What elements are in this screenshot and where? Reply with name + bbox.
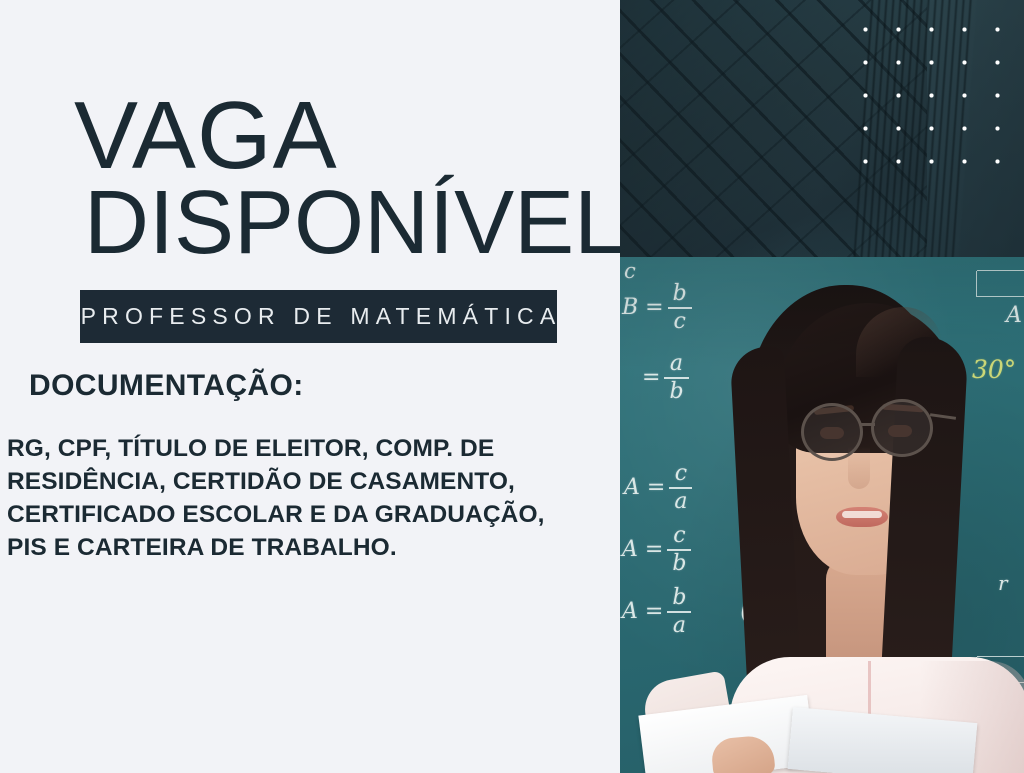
image-column: c B = b c = a xyxy=(620,0,1024,773)
headline-line-2: DISPONÍVEL xyxy=(84,178,624,268)
documentation-line: CERTIFICADO ESCOLAR E DA GRADUAÇÃO, xyxy=(7,498,607,531)
architecture-photo xyxy=(620,0,1024,257)
headline-line-1: VAGA xyxy=(74,88,338,184)
poster-canvas: VAGA DISPONÍVEL PROFESSOR DE MATEMÁTICA … xyxy=(0,0,1024,773)
documentation-heading: DOCUMENTAÇÃO: xyxy=(29,369,304,403)
photo-top-shadow xyxy=(620,257,1024,773)
documentation-list: RG, CPF, TÍTULO DE ELEITOR, COMP. DE RES… xyxy=(7,432,607,564)
subtitle-banner: PROFESSOR DE MATEMÁTICA xyxy=(80,290,557,343)
documentation-line: PIS E CARTEIRA DE TRABALHO. xyxy=(7,531,607,564)
documentation-line: RG, CPF, TÍTULO DE ELEITOR, COMP. DE xyxy=(7,432,607,465)
dot-grid-overlay xyxy=(846,9,1024,191)
documentation-line: RESIDÊNCIA, CERTIDÃO DE CASAMENTO, xyxy=(7,465,607,498)
subtitle-label: PROFESSOR DE MATEMÁTICA xyxy=(76,303,562,330)
text-column: VAGA DISPONÍVEL PROFESSOR DE MATEMÁTICA … xyxy=(0,0,620,773)
teacher-photo: c B = b c = a xyxy=(620,257,1024,773)
